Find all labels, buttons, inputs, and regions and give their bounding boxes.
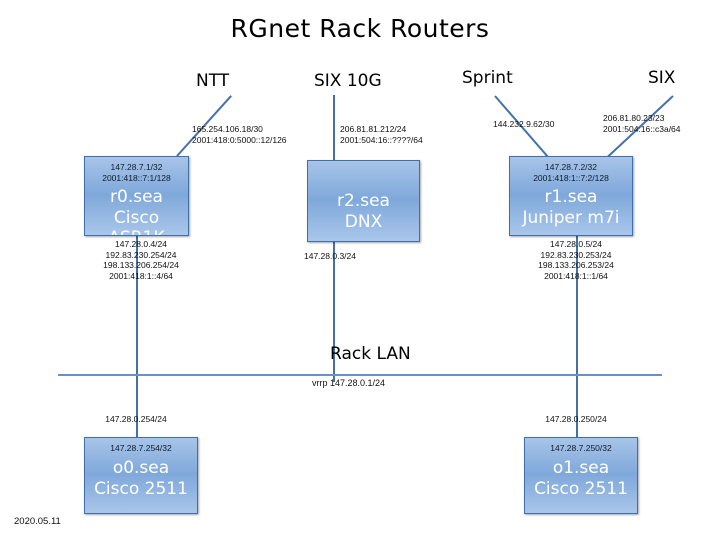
uplink-line-six10g xyxy=(333,95,335,160)
router-r1-loopback-v4: 147.28.7.2/32 xyxy=(545,162,597,173)
console-node-o1[interactable]: 147.28.7.250/32 o1.sea Cisco 2511 xyxy=(524,437,638,514)
uplink-addr-ntt: 165.254.106.18/30 2001:418:0:5000::12/12… xyxy=(192,124,287,145)
uplink-addr-ntt-v6: 2001:418:0:5000::12/126 xyxy=(192,135,287,146)
page-title: RGnet Rack Routers xyxy=(0,14,720,43)
provider-label-six: SIX xyxy=(648,68,675,88)
router-r0-name: r0.sea xyxy=(110,187,163,207)
rack-lan-bus xyxy=(58,374,662,376)
rack-lan-label: Rack LAN xyxy=(330,344,411,364)
router-r0-loopback-v4: 147.28.7.1/32 xyxy=(111,162,163,173)
router-r1-name: r1.sea xyxy=(545,187,598,207)
network-diagram: RGnet Rack Routers NTT SIX 10G Sprint SI… xyxy=(0,0,720,540)
console-o0-name: o0.sea xyxy=(113,458,169,478)
lan-interfaces-r2: 147.28.0.3/24 xyxy=(304,251,356,262)
lan-drop-o1 xyxy=(576,382,578,437)
router-r1-loopback-v6: 2001:418:1::7:2/128 xyxy=(533,173,609,184)
lan-interface-r0-2: 198.133.206.254/24 xyxy=(99,260,183,271)
console-link-addr-o1: 147.28.0.250/24 xyxy=(534,414,618,425)
uplink-addr-sprint: 144.232.9.62/30 xyxy=(493,119,554,130)
console-o1-name: o1.sea xyxy=(553,458,609,478)
provider-label-sprint: Sprint xyxy=(462,68,513,88)
router-r1-model: Juniper m7i xyxy=(522,208,619,228)
console-link-addr-o0: 147.28.0.254/24 xyxy=(94,414,178,425)
console-o1-model: Cisco 2511 xyxy=(534,479,628,499)
uplink-addr-sprint-v4: 144.232.9.62/30 xyxy=(493,119,554,130)
lan-interface-r1-2: 198.133.206.253/24 xyxy=(534,260,618,271)
router-node-r0[interactable]: 147.28.7.1/32 2001:418::7:1/128 r0.sea C… xyxy=(84,156,189,236)
lan-interfaces-r1: 147.28.0.5/24 192.83.230.253/24 198.133.… xyxy=(534,239,618,281)
router-r0-loopback-v6: 2001:418::7:1/128 xyxy=(102,173,171,184)
uplink-addr-ntt-v4: 165.254.106.18/30 xyxy=(192,124,287,135)
console-o0-model: Cisco 2511 xyxy=(94,479,188,499)
lan-drop-o0 xyxy=(136,382,138,437)
lan-interfaces-r0: 147.28.0.4/24 192.83.230.254/24 198.133.… xyxy=(99,239,183,281)
uplink-addr-six10g-v4: 206.81.81.212/24 xyxy=(340,124,423,135)
console-o1-loopback-v4: 147.28.7.250/32 xyxy=(550,443,611,454)
router-r0-model: Cisco ASR1K xyxy=(85,208,188,236)
provider-label-ntt: NTT xyxy=(196,71,229,91)
router-node-r1[interactable]: 147.28.7.2/32 2001:418:1::7:2/128 r1.sea… xyxy=(509,156,633,236)
router-r2-model: DNX xyxy=(345,212,382,232)
uplink-addr-six10g-v6: 2001:504:16::????/64 xyxy=(340,135,423,146)
lan-interface-r0-3: 2001:418:1::4/64 xyxy=(99,271,183,282)
uplink-addr-six: 206.81.80.23/23 2001:504:16::c3a/64 xyxy=(603,113,681,134)
console-o0-loopback-v4: 147.28.7.254/32 xyxy=(110,443,171,454)
console-node-o0[interactable]: 147.28.7.254/32 o0.sea Cisco 2511 xyxy=(84,437,198,514)
datestamp: 2020.05.11 xyxy=(14,516,61,527)
lan-interface-r1-3: 2001:418:1::1/64 xyxy=(534,271,618,282)
lan-interface-r0-1: 192.83.230.254/24 xyxy=(99,250,183,261)
provider-label-six10g: SIX 10G xyxy=(314,71,382,91)
rack-lan-vrrp-label: vrrp 147.28.0.1/24 xyxy=(312,378,385,388)
router-node-r2[interactable]: r2.sea DNX xyxy=(307,160,420,242)
router-r2-name: r2.sea xyxy=(337,191,390,211)
lan-interface-r0-0: 147.28.0.4/24 xyxy=(99,239,183,250)
lan-interface-r1-1: 192.83.230.253/24 xyxy=(534,250,618,261)
uplink-addr-six-v4: 206.81.80.23/23 xyxy=(603,113,681,124)
uplink-addr-six10g: 206.81.81.212/24 2001:504:16::????/64 xyxy=(340,124,423,145)
uplink-addr-six-v6: 2001:504:16::c3a/64 xyxy=(603,124,681,135)
lan-interface-r2-0: 147.28.0.3/24 xyxy=(304,251,356,262)
lan-interface-r1-0: 147.28.0.5/24 xyxy=(534,239,618,250)
